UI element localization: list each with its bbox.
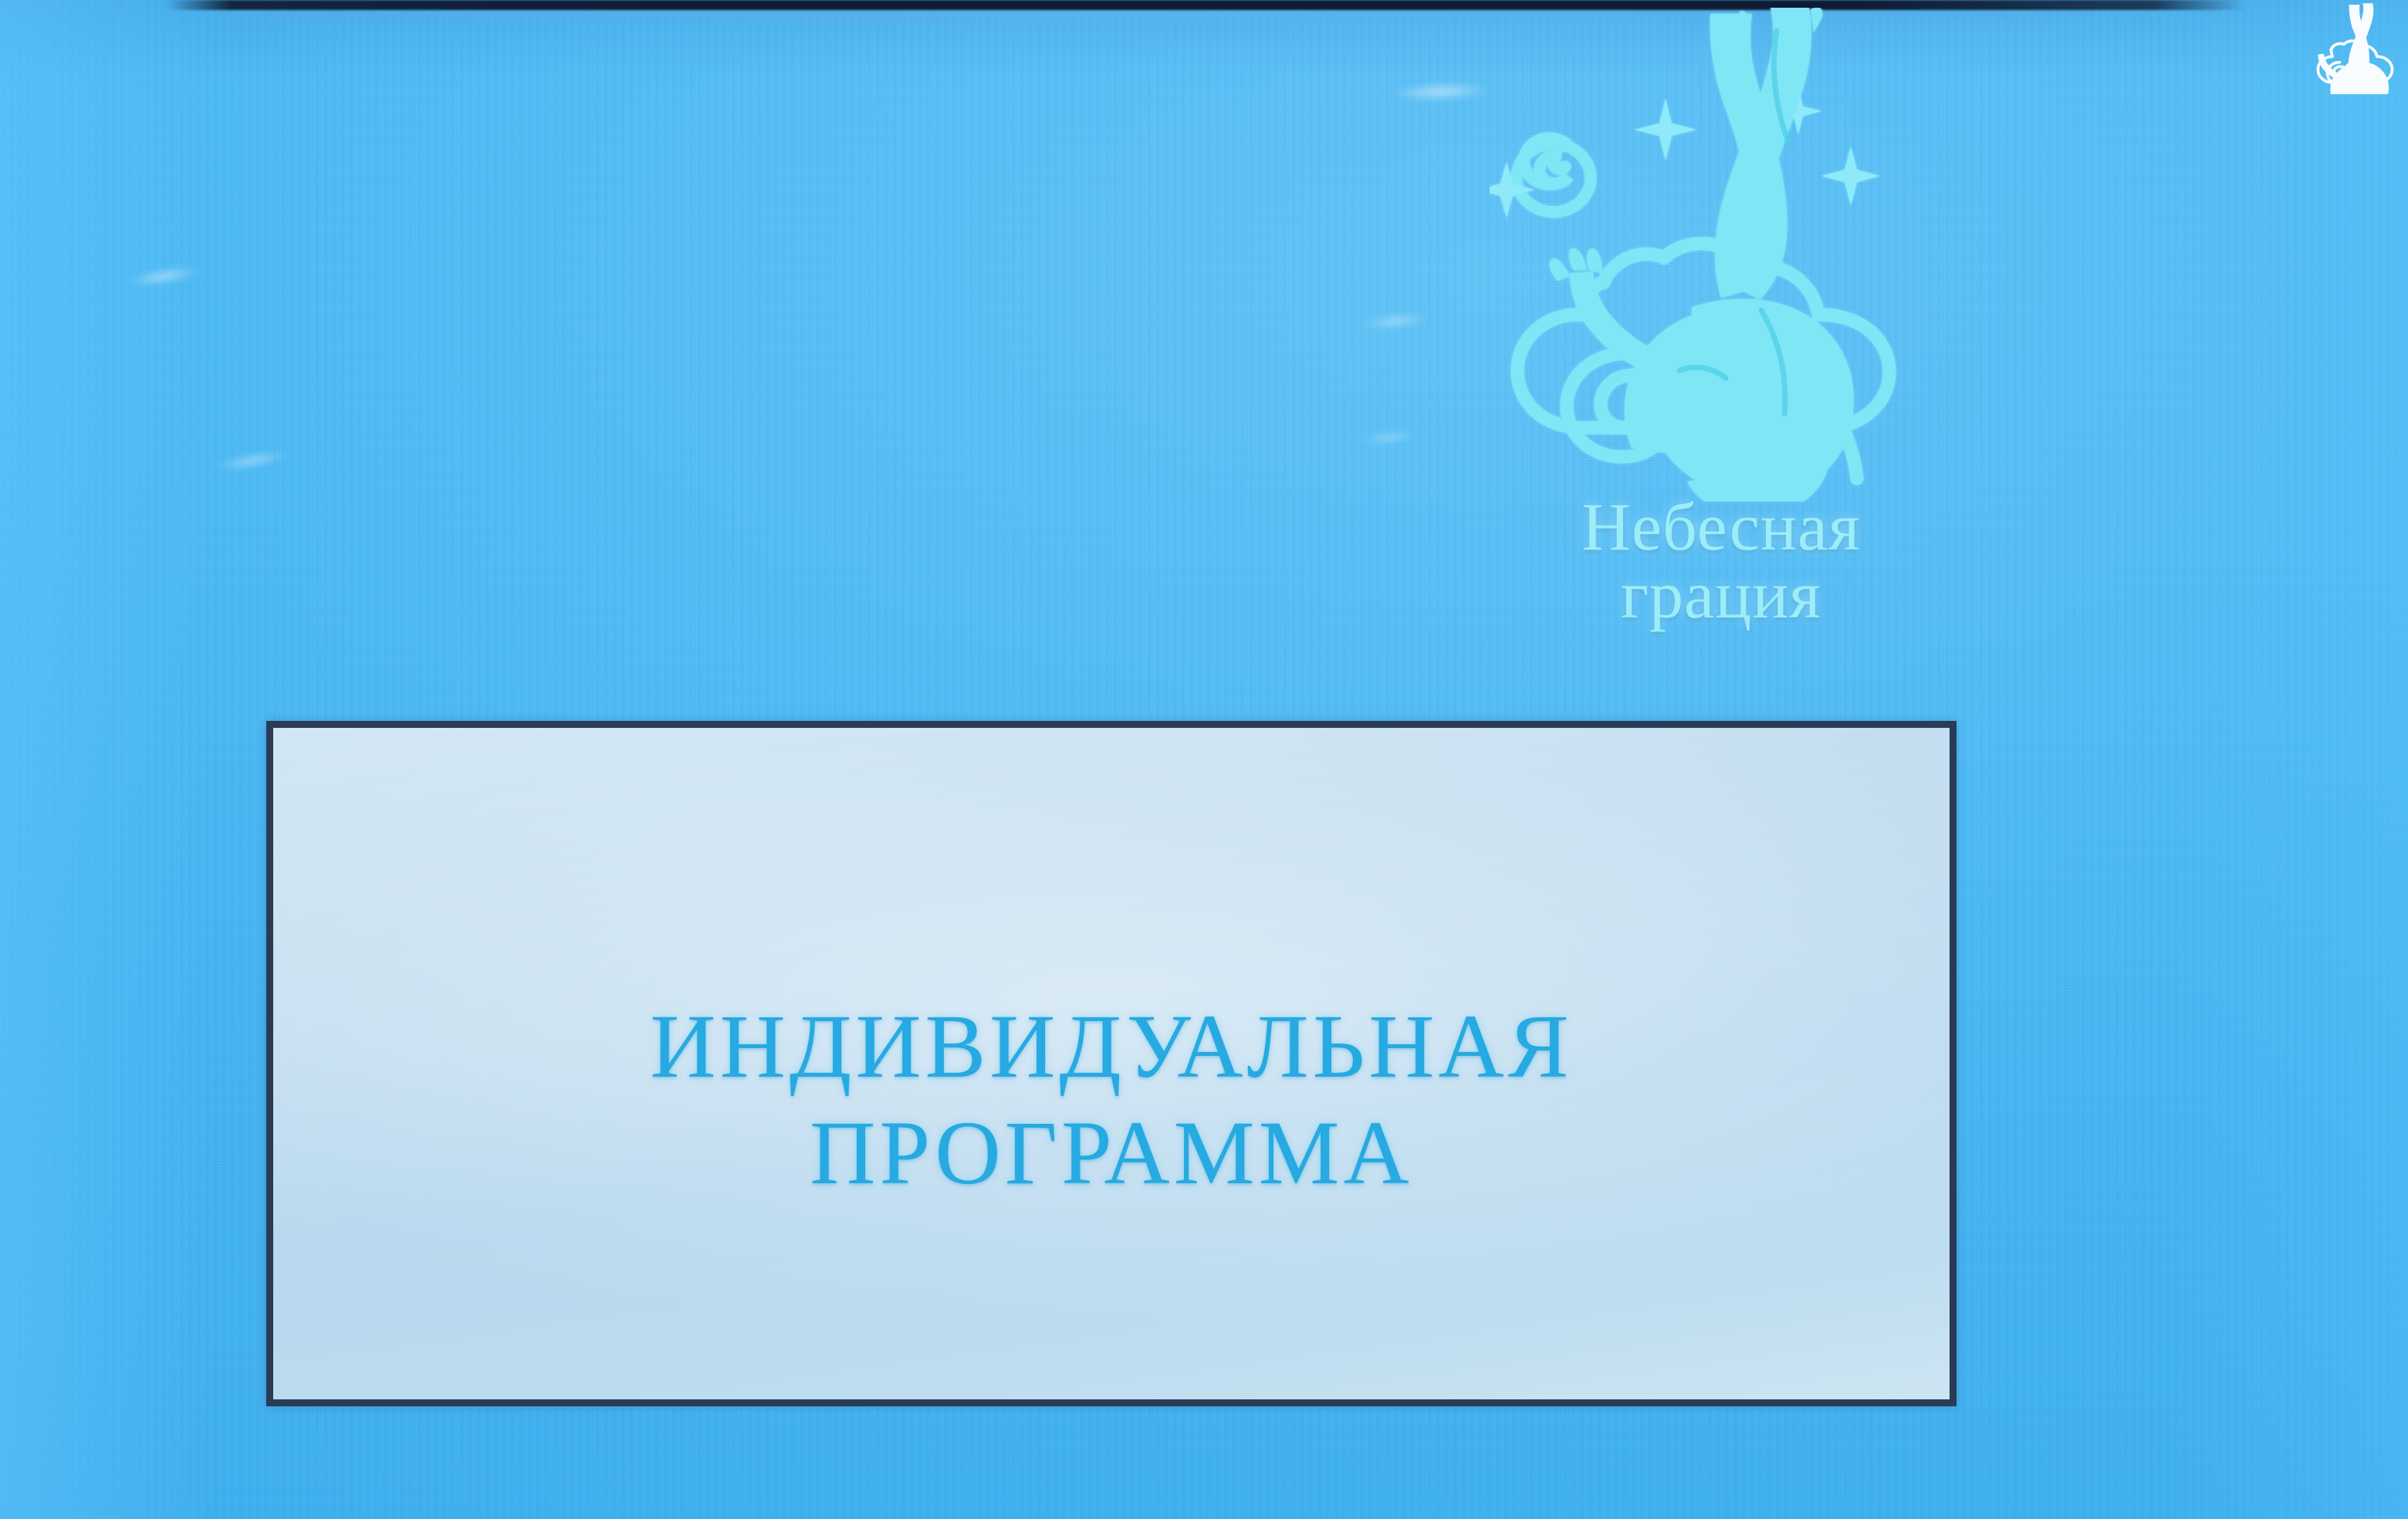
screen-top-bezel (0, 0, 2408, 10)
gymnast-in-cloud-icon (1490, 8, 1953, 502)
gymnast-in-cloud-watermark-icon (2311, 3, 2397, 94)
brand-logo: Небесная грация (1490, 8, 1953, 687)
brand-name-line-1: Небесная (1581, 490, 1860, 565)
page-title: ИНДИВИДУАЛЬНАЯ ПРОГРАММА (273, 993, 1950, 1206)
slide-screen: Небесная грация ИНДИВИДУАЛЬНАЯ (0, 0, 2408, 1519)
brand-name: Небесная грация (1490, 494, 1953, 630)
title-panel: ИНДИВИДУАЛЬНАЯ ПРОГРАММА (266, 721, 1956, 1406)
page-title-line-1: ИНДИВИДУАЛЬНАЯ (273, 993, 1950, 1100)
page-title-line-2: ПРОГРАММА (273, 1100, 1950, 1206)
brand-name-line-2: грация (1490, 562, 1953, 630)
